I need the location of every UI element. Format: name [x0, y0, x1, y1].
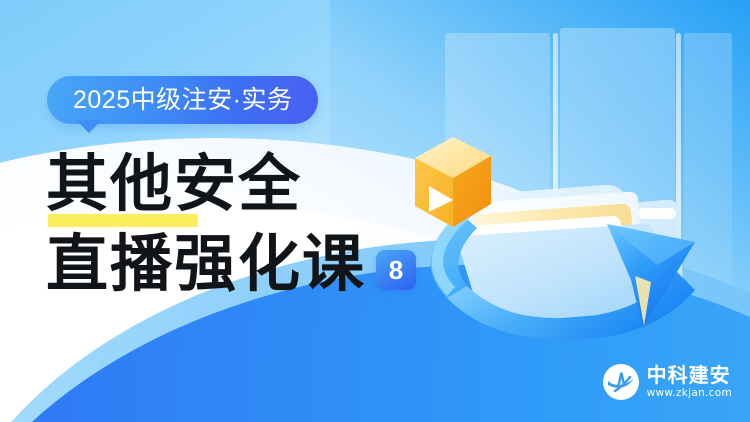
course-tag-badge: 2025中级注安·实务 [47, 76, 318, 124]
headline-line-1-row: 其他安全 [46, 148, 466, 226]
course-tag-label: 2025中级注安·实务 [73, 88, 292, 113]
headline-line-2-row: 直播强化课 8 [46, 228, 466, 300]
tag-badge-tail [76, 120, 102, 133]
headline-line-2: 直播强化课 [46, 228, 366, 300]
brand-name: 中科建安 [647, 364, 732, 386]
episode-number-badge: 8 [376, 250, 416, 290]
brand-url: www.zkjan.com [647, 386, 732, 400]
brand-logo-text: 中科建安 www.zkjan.com [647, 364, 732, 400]
headline-line-1: 其他安全 [46, 148, 466, 220]
episode-number-label: 8 [389, 257, 403, 283]
headline-block: 其他安全 直播强化课 8 [46, 148, 466, 300]
circle-swoosh-logo-icon [603, 364, 639, 400]
brand-logo: 中科建安 www.zkjan.com [603, 364, 732, 400]
course-banner: 2025中级注安·实务 其他安全 直播强化课 8 中科建安 www.zkjan [0, 0, 750, 422]
